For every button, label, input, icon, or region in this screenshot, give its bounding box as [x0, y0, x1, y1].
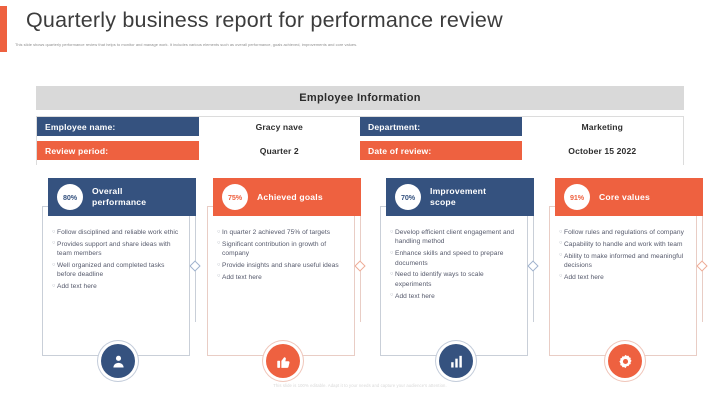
gear-idea-icon	[608, 344, 642, 378]
percent-badge: 75%	[222, 184, 248, 210]
thumbs-up-icon	[266, 344, 300, 378]
list-item: ○Add text here	[217, 273, 347, 282]
list-item: ○Follow disciplined and reliable work et…	[52, 228, 182, 237]
card-connector-diamond	[354, 260, 365, 271]
employee-information-section: Employee Information Employee name: Grac…	[36, 86, 684, 165]
card-connector-diamond	[189, 260, 200, 271]
card-header: 91% Core values	[555, 178, 703, 216]
list-item-text: Follow disciplined and reliable work eth…	[57, 228, 182, 237]
card-header: 80% Overall performance	[48, 178, 196, 216]
metric-card-overall-performance[interactable]: 80% Overall performance ○Follow discipli…	[42, 178, 194, 368]
list-item-text: Well organized and completed tasks befor…	[57, 261, 182, 280]
list-item-text: Add text here	[564, 273, 689, 282]
card-title: Core values	[599, 192, 650, 203]
card-bullet-list: ○In quarter 2 achieved 75% of targets ○S…	[217, 228, 347, 285]
page-subtitle: This slide shows quarterly performance r…	[15, 42, 705, 48]
card-title: Improvement scope	[430, 186, 514, 207]
date-of-review-value: October 15 2022	[522, 141, 683, 160]
list-item-text: Enhance skills and speed to prepare docu…	[395, 249, 520, 268]
card-header: 70% Improvement scope	[386, 178, 534, 216]
table-bottom-spacer	[37, 160, 683, 165]
list-item: ○Well organized and completed tasks befo…	[52, 261, 182, 280]
page-title: Quarterly business report for performanc…	[26, 8, 503, 33]
review-period-value: Quarter 2	[199, 141, 360, 160]
card-bullet-list: ○Develop efficient client engagement and…	[390, 228, 520, 304]
list-item: ○Capability to handle and work with team	[559, 240, 689, 249]
list-item-text: In quarter 2 achieved 75% of targets	[222, 228, 347, 237]
list-item-text: Need to identify ways to scale experimen…	[395, 270, 520, 289]
list-item: ○Significant contribution in growth of c…	[217, 240, 347, 259]
list-item: ○Ability to make informed and meaningful…	[559, 252, 689, 271]
list-item-text: Add text here	[395, 292, 520, 301]
employee-name-value: Gracy nave	[199, 117, 360, 136]
list-item: ○Provide insights and share useful ideas	[217, 261, 347, 270]
bar-chart-icon	[439, 344, 473, 378]
metric-card-core-values[interactable]: 91% Core values ○Follow rules and regula…	[549, 178, 701, 368]
accent-bar	[0, 6, 7, 52]
list-item: ○Add text here	[52, 282, 182, 291]
list-item: ○In quarter 2 achieved 75% of targets	[217, 228, 347, 237]
department-label: Department:	[360, 117, 522, 136]
department-value: Marketing	[522, 117, 683, 136]
list-item: ○Follow rules and regulations of company	[559, 228, 689, 237]
card-connector-diamond	[696, 260, 707, 271]
user-icon	[101, 344, 135, 378]
list-item: ○Provides support and share ideas with t…	[52, 240, 182, 259]
list-item-text: Provides support and share ideas with te…	[57, 240, 182, 259]
card-bullet-list: ○Follow disciplined and reliable work et…	[52, 228, 182, 294]
slide: Quarterly business report for performanc…	[0, 0, 720, 404]
metric-cards: 80% Overall performance ○Follow discipli…	[0, 178, 720, 368]
list-item-text: Develop efficient client engagement and …	[395, 228, 520, 247]
card-header: 75% Achieved goals	[213, 178, 361, 216]
metric-card-achieved-goals[interactable]: 75% Achieved goals ○In quarter 2 achieve…	[207, 178, 359, 368]
card-title: Overall performance	[92, 186, 176, 207]
list-item: ○Add text here	[559, 273, 689, 282]
table-row: Review period: Quarter 2 Date of review:…	[37, 141, 683, 160]
employee-name-label: Employee name:	[37, 117, 199, 136]
review-period-label: Review period:	[37, 141, 199, 160]
date-of-review-label: Date of review:	[360, 141, 522, 160]
metric-card-improvement-scope[interactable]: 70% Improvement scope ○Develop efficient…	[380, 178, 532, 368]
list-item-text: Significant contribution in growth of co…	[222, 240, 347, 259]
list-item-text: Ability to make informed and meaningful …	[564, 252, 689, 271]
card-bullet-list: ○Follow rules and regulations of company…	[559, 228, 689, 285]
list-item-text: Capability to handle and work with team	[564, 240, 689, 249]
footer-note: This slide is 100% editable. Adapt it to…	[0, 383, 720, 388]
list-item-text: Provide insights and share useful ideas	[222, 261, 347, 270]
list-item: ○Need to identify ways to scale experime…	[390, 270, 520, 289]
card-connector-diamond	[527, 260, 538, 271]
list-item-text: Add text here	[222, 273, 347, 282]
employee-information-table: Employee name: Gracy nave Department: Ma…	[36, 116, 684, 165]
employee-information-title: Employee Information	[36, 86, 684, 110]
card-title: Achieved goals	[257, 192, 323, 203]
percent-badge: 70%	[395, 184, 421, 210]
list-item: ○Enhance skills and speed to prepare doc…	[390, 249, 520, 268]
list-item: ○Develop efficient client engagement and…	[390, 228, 520, 247]
list-item-text: Add text here	[57, 282, 182, 291]
percent-badge: 80%	[57, 184, 83, 210]
percent-badge: 91%	[564, 184, 590, 210]
list-item: ○Add text here	[390, 292, 520, 301]
table-row: Employee name: Gracy nave Department: Ma…	[37, 117, 683, 136]
list-item-text: Follow rules and regulations of company	[564, 228, 689, 237]
